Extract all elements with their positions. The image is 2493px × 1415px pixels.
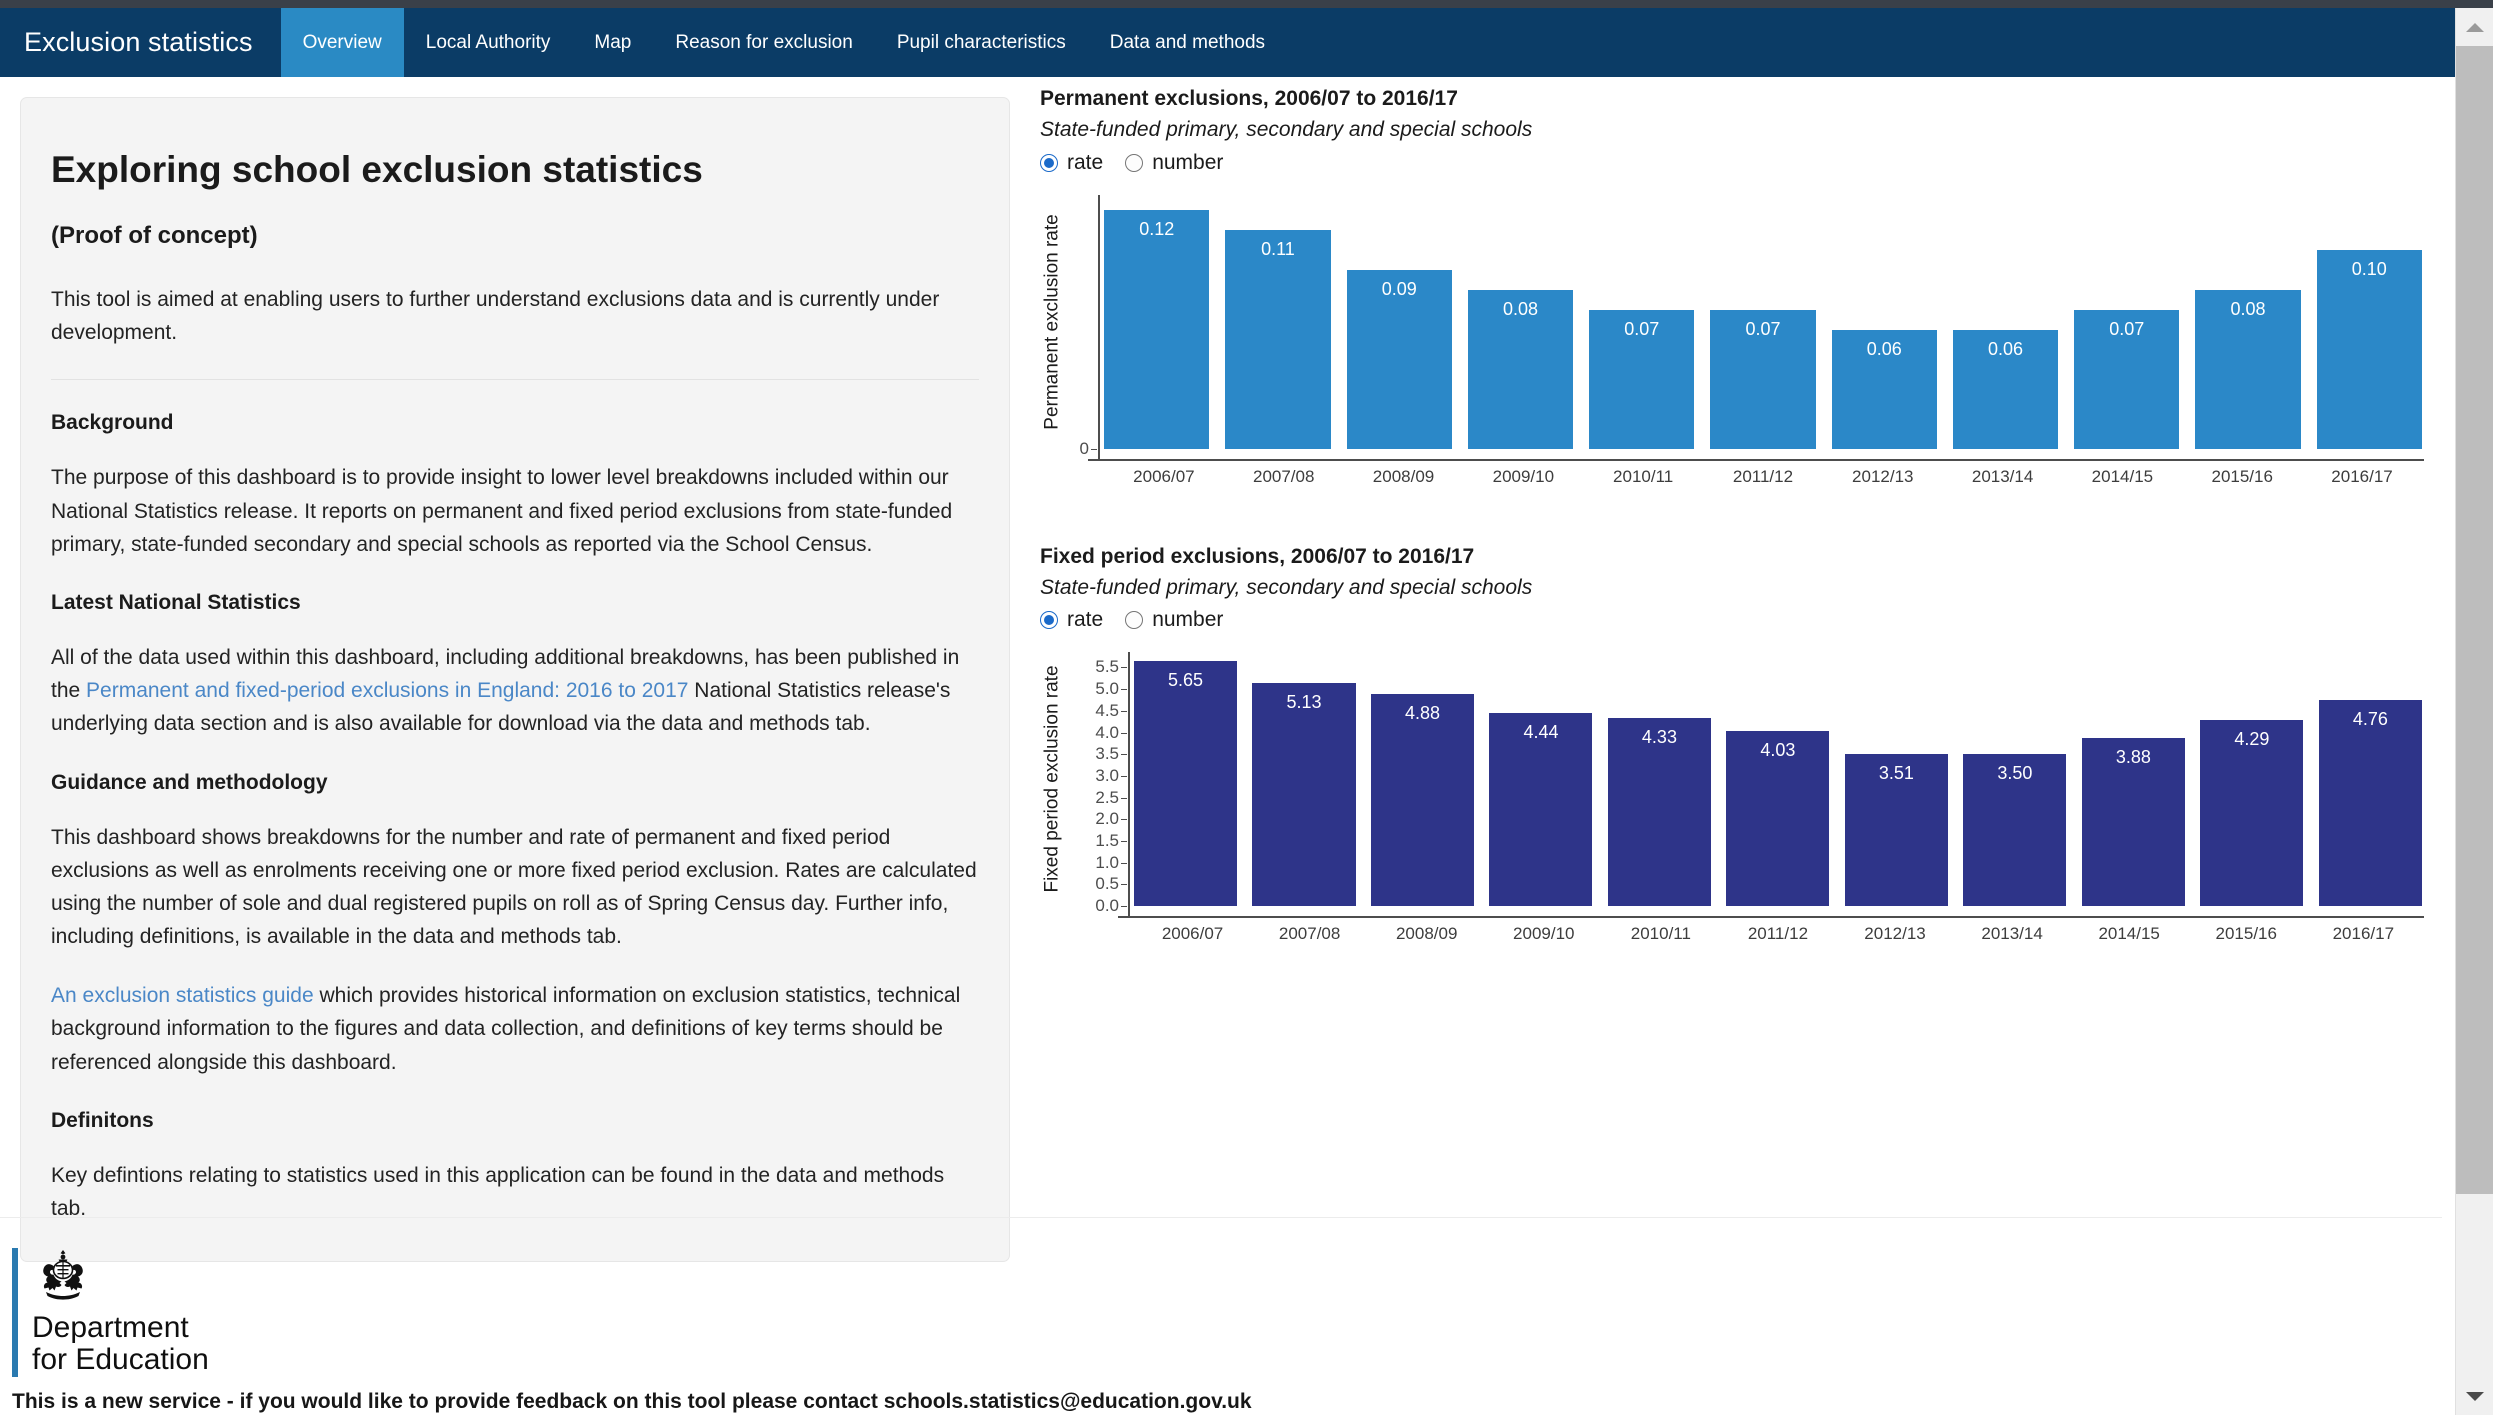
app-brand: Exclusion statistics: [0, 8, 281, 77]
plot-fixed-x-tick-label: 2012/13: [1836, 924, 1953, 944]
page-scrollbar[interactable]: [2455, 8, 2493, 1415]
bar-2007-08[interactable]: 0.11: [1225, 230, 1330, 448]
plot-fixed-y-tick-label: 4.0: [1095, 723, 1119, 743]
link-national-statistics-release[interactable]: Permanent and fixed-period exclusions in…: [86, 679, 688, 702]
chevron-up-icon: [2466, 23, 2484, 32]
plot-permanent-x-tick-label: 2015/16: [2182, 467, 2302, 487]
intro-paragraph: This tool is aimed at enabling users to …: [51, 284, 979, 349]
bar-value-label: 0.06: [1953, 339, 2058, 360]
plot-permanent-x-ticks: 2006/072007/082008/092009/102010/112011/…: [1104, 467, 2422, 487]
fixed-chart-title: Fixed period exclusions, 2006/07 to 2016…: [1040, 543, 2440, 570]
plot-fixed-y-tick-label: 1.0: [1095, 853, 1119, 873]
bar-2013-14[interactable]: 0.06: [1953, 330, 2058, 449]
plot-fixed-y-ticks: 0.00.51.01.52.02.53.03.54.04.55.05.5: [1072, 652, 1128, 906]
bar-slot: 0.06: [1832, 195, 1937, 449]
bar-2012-13[interactable]: 0.06: [1832, 330, 1937, 449]
permanent-radio-button-rate[interactable]: [1040, 154, 1058, 172]
permanent-chart-title: Permanent exclusions, 2006/07 to 2016/17: [1040, 85, 2440, 112]
bar-value-label: 3.88: [2082, 747, 2185, 768]
bar-2007-08[interactable]: 5.13: [1252, 683, 1355, 906]
plot-fixed-y-tick-label: 5.5: [1095, 657, 1119, 677]
plot-fixed-y-tick-label: 3.5: [1095, 744, 1119, 764]
bar-2011-12[interactable]: 4.03: [1726, 731, 1829, 906]
plot-fixed-y-tick-label: 0.5: [1095, 874, 1119, 894]
section-heading-definitions: Definitons: [51, 1109, 979, 1133]
bar-slot: 4.03: [1726, 652, 1829, 906]
fixed-measure-radio-group: ratenumber: [1040, 608, 2440, 632]
scrollbar-up-button[interactable]: [2456, 8, 2493, 46]
permanent-radio-number[interactable]: number: [1125, 151, 1223, 175]
bar-value-label: 0.09: [1347, 279, 1452, 300]
bar-2015-16[interactable]: 4.29: [2200, 720, 2303, 906]
nav-tab-local-authority[interactable]: Local Authority: [404, 8, 573, 77]
plot-fixed-x-tick-label: 2015/16: [2188, 924, 2305, 944]
bar-value-label: 4.29: [2200, 729, 2303, 750]
plot-permanent-x-tick-label: 2008/09: [1344, 467, 1464, 487]
royal-crest-icon: [32, 1248, 94, 1308]
bar-2010-11[interactable]: 4.33: [1608, 718, 1711, 906]
fixed-radio-label-number: number: [1152, 608, 1223, 632]
fixed-radio-rate[interactable]: rate: [1040, 608, 1103, 632]
bar-slot: 4.44: [1489, 652, 1592, 906]
bar-slot: 0.11: [1225, 195, 1330, 449]
section-divider: [51, 379, 979, 381]
plot-fixed-y-tick-label: 5.0: [1095, 679, 1119, 699]
section-body-definitions: Key defintions relating to statistics us…: [51, 1159, 979, 1225]
overview-info-panel: Exploring school exclusion statistics (P…: [20, 97, 1010, 1262]
bar-slot: 4.76: [2319, 652, 2422, 906]
plot-fixed-y-tick-label: 1.5: [1095, 831, 1119, 851]
content-area: Exploring school exclusion statistics (P…: [0, 77, 2455, 1217]
bar-2006-07[interactable]: 0.12: [1104, 210, 1209, 448]
permanent-exclusions-plot: Permanent exclusion rate00.120.110.090.0…: [1040, 189, 2430, 489]
scrollbar-down-button[interactable]: [2456, 1377, 2493, 1415]
bar-value-label: 4.03: [1726, 740, 1829, 761]
section-body-latest-statistics: All of the data used within this dashboa…: [51, 641, 979, 741]
plot-fixed-x-tick-label: 2010/11: [1602, 924, 1719, 944]
main-navbar: Exclusion statistics OverviewLocal Autho…: [0, 8, 2455, 77]
bar-value-label: 5.65: [1134, 670, 1237, 691]
bar-2014-15[interactable]: 3.88: [2082, 738, 2185, 906]
bar-slot: 3.51: [1845, 652, 1948, 906]
section-heading-background: Background: [51, 411, 979, 435]
bar-slot: 0.09: [1347, 195, 1452, 449]
bar-slot: 0.07: [1710, 195, 1815, 449]
permanent-chart-subtitle: State-funded primary, secondary and spec…: [1040, 116, 2440, 143]
bar-2008-09[interactable]: 0.09: [1347, 270, 1452, 449]
section-body-background: The purpose of this dashboard is to prov…: [51, 461, 979, 561]
permanent-radio-rate[interactable]: rate: [1040, 151, 1103, 175]
plot-fixed-x-tick-label: 2014/15: [2071, 924, 2188, 944]
plot-permanent-x-tick-label: 2013/14: [1943, 467, 2063, 487]
section-body-guidance-link-para: An exclusion statistics guide which prov…: [51, 979, 979, 1079]
plot-fixed-y-tick-label: 4.5: [1095, 701, 1119, 721]
bar-value-label: 0.08: [1468, 299, 1573, 320]
bar-2011-12[interactable]: 0.07: [1710, 310, 1815, 449]
plot-fixed-x-tick-label: 2011/12: [1719, 924, 1836, 944]
charts-column: Permanent exclusions, 2006/07 to 2016/17…: [1040, 85, 2440, 946]
bar-value-label: 4.44: [1489, 722, 1592, 743]
nav-tabs: OverviewLocal AuthorityMapReason for exc…: [281, 8, 1287, 77]
plot-permanent-x-axis-line: [1088, 459, 2424, 461]
bar-value-label: 0.07: [2074, 319, 2179, 340]
bar-value-label: 0.11: [1225, 239, 1330, 260]
feedback-banner: This is a new service - if you would lik…: [12, 1390, 1252, 1414]
page-subtitle: (Proof of concept): [51, 222, 979, 250]
plot-permanent-y-tick-label: 0: [1080, 439, 1089, 459]
plot-permanent-x-tick-label: 2016/17: [2302, 467, 2422, 487]
plot-fixed-x-tick-label: 2009/10: [1485, 924, 1602, 944]
dfe-logo: Department for Education: [12, 1248, 242, 1377]
plot-fixed-y-tick-label: 2.5: [1095, 788, 1119, 808]
plot-fixed-y-axis-label: Fixed period exclusion rate: [1042, 666, 1064, 893]
bar-slot: 0.07: [1589, 195, 1694, 449]
plot-fixed-x-tick-label: 2008/09: [1368, 924, 1485, 944]
fixed-radio-number[interactable]: number: [1125, 608, 1223, 632]
plot-permanent-x-tick-label: 2011/12: [1703, 467, 1823, 487]
bar-slot: 5.65: [1134, 652, 1237, 906]
permanent-radio-label-number: number: [1152, 151, 1223, 175]
bar-2014-15[interactable]: 0.07: [2074, 310, 2179, 449]
bar-slot: 4.33: [1608, 652, 1711, 906]
bar-slot: 4.29: [2200, 652, 2303, 906]
plot-fixed-y-axis-label-wrap: Fixed period exclusion rate: [1040, 652, 1066, 906]
bar-slot: 0.07: [2074, 195, 2179, 449]
section-heading-guidance: Guidance and methodology: [51, 771, 979, 795]
bar-value-label: 0.07: [1710, 319, 1815, 340]
plot-permanent-x-tick-label: 2007/08: [1224, 467, 1344, 487]
bar-value-label: 0.07: [1589, 319, 1694, 340]
plot-fixed-y-tick-label: 2.0: [1095, 809, 1119, 829]
plot-fixed-y-tick-label: 0.0: [1095, 896, 1119, 916]
bar-2006-07[interactable]: 5.65: [1134, 661, 1237, 906]
permanent-measure-radio-group: ratenumber: [1040, 151, 2440, 175]
plot-fixed-x-tick-label: 2007/08: [1251, 924, 1368, 944]
nav-tab-overview[interactable]: Overview: [281, 8, 404, 77]
bar-slot: 0.06: [1953, 195, 2058, 449]
bar-value-label: 3.51: [1845, 763, 1948, 784]
bar-slot: 0.08: [2195, 195, 2300, 449]
plot-fixed-y-tick-label: 3.0: [1095, 766, 1119, 786]
plot-permanent-x-tick-label: 2009/10: [1463, 467, 1583, 487]
scrollbar-thumb[interactable]: [2456, 46, 2493, 1194]
bar-value-label: 0.12: [1104, 219, 1209, 240]
plot-fixed-x-axis-line: [1118, 916, 2424, 918]
bar-slot: 5.13: [1252, 652, 1355, 906]
plot-permanent-x-tick-label: 2012/13: [1823, 467, 1943, 487]
plot-permanent-x-tick-label: 2014/15: [2063, 467, 2183, 487]
plot-permanent-bars: 0.120.110.090.080.070.070.060.060.070.08…: [1104, 195, 2422, 449]
bar-value-label: 0.06: [1832, 339, 1937, 360]
bar-slot: 3.50: [1963, 652, 2066, 906]
bar-value-label: 4.88: [1371, 703, 1474, 724]
plot-fixed-x-tick-label: 2013/14: [1954, 924, 2071, 944]
fixed-radio-label-rate: rate: [1067, 608, 1103, 632]
section-heading-latest-statistics: Latest National Statistics: [51, 591, 979, 615]
plot-fixed-x-ticks: 2006/072007/082008/092009/102010/112011/…: [1134, 924, 2422, 944]
link-exclusion-statistics-guide[interactable]: An exclusion statistics guide: [51, 984, 314, 1007]
bar-slot: 4.88: [1371, 652, 1474, 906]
page-title: Exploring school exclusion statistics: [51, 148, 979, 192]
browser-chrome-strip: [0, 0, 2493, 8]
dfe-logo-line2: for Education: [32, 1344, 242, 1376]
dfe-logo-text: Department for Education: [32, 1312, 242, 1377]
footer-divider: [0, 1217, 2442, 1218]
section-body-guidance: This dashboard shows breakdowns for the …: [51, 821, 979, 954]
chevron-down-icon: [2466, 1392, 2484, 1401]
fixed-period-exclusions-chart-block: Fixed period exclusions, 2006/07 to 2016…: [1040, 543, 2440, 947]
bar-value-label: 4.33: [1608, 727, 1711, 748]
nav-tab-map[interactable]: Map: [572, 8, 653, 77]
bar-value-label: 3.50: [1963, 763, 2066, 784]
bar-value-label: 0.10: [2317, 259, 2422, 280]
bar-value-label: 4.76: [2319, 709, 2422, 730]
bar-value-label: 0.08: [2195, 299, 2300, 320]
bar-value-label: 5.13: [1252, 692, 1355, 713]
plot-permanent-y-axis-line: [1098, 195, 1100, 459]
dfe-logo-line1: Department: [32, 1312, 242, 1344]
bar-2008-09[interactable]: 4.88: [1371, 694, 1474, 906]
plot-permanent-x-tick-label: 2006/07: [1104, 467, 1224, 487]
nav-tab-reason-for-exclusion[interactable]: Reason for exclusion: [653, 8, 874, 77]
fixed-radio-button-rate[interactable]: [1040, 611, 1058, 629]
bar-slot: 0.12: [1104, 195, 1209, 449]
plot-fixed-bars: 5.655.134.884.444.334.033.513.503.884.29…: [1134, 652, 2422, 906]
app-window: Exclusion statistics OverviewLocal Autho…: [0, 0, 2493, 1415]
bar-2016-17[interactable]: 4.76: [2319, 700, 2422, 907]
bar-slot: 0.10: [2317, 195, 2422, 449]
nav-tab-data-and-methods[interactable]: Data and methods: [1088, 8, 1287, 77]
bar-2016-17[interactable]: 0.10: [2317, 250, 2422, 448]
fixed-chart-subtitle: State-funded primary, secondary and spec…: [1040, 574, 2440, 601]
nav-tab-pupil-characteristics[interactable]: Pupil characteristics: [875, 8, 1088, 77]
bar-2009-10[interactable]: 4.44: [1489, 713, 1592, 906]
fixed-period-exclusions-plot: Fixed period exclusion rate0.00.51.01.52…: [1040, 646, 2430, 946]
plot-fixed-y-axis-line: [1128, 652, 1130, 916]
permanent-exclusions-chart-block: Permanent exclusions, 2006/07 to 2016/17…: [1040, 85, 2440, 489]
bar-2009-10[interactable]: 0.08: [1468, 290, 1573, 449]
fixed-radio-button-number[interactable]: [1125, 611, 1143, 629]
permanent-radio-label-rate: rate: [1067, 151, 1103, 175]
bar-slot: 0.08: [1468, 195, 1573, 449]
plot-permanent-x-tick-label: 2010/11: [1583, 467, 1703, 487]
bar-2013-14[interactable]: 3.50: [1963, 754, 2066, 906]
plot-fixed-x-tick-label: 2016/17: [2305, 924, 2422, 944]
bar-2012-13[interactable]: 3.51: [1845, 754, 1948, 906]
permanent-radio-button-number[interactable]: [1125, 154, 1143, 172]
bar-2015-16[interactable]: 0.08: [2195, 290, 2300, 449]
plot-fixed-x-tick-label: 2006/07: [1134, 924, 1251, 944]
bar-slot: 3.88: [2082, 652, 2185, 906]
bar-2010-11[interactable]: 0.07: [1589, 310, 1694, 449]
plot-permanent-y-ticks: 0: [1042, 195, 1098, 449]
